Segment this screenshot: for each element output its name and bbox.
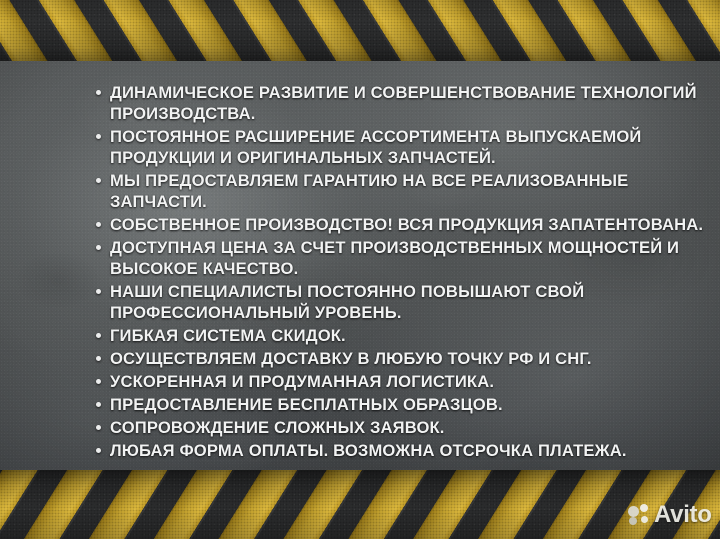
poster-image: ДИНАМИЧЕСКОЕ РАЗВИТИЕ И СОВЕРШЕНСТВОВАНИ… <box>0 0 720 539</box>
hazard-shading-bottom <box>0 470 720 539</box>
list-item-text: ПОСТОЯННОЕ РАСШИРЕНИЕ АССОРТИМЕНТА ВЫПУС… <box>110 126 706 168</box>
bullet-dot-icon <box>96 90 101 95</box>
list-item-text: ЛЮБАЯ ФОРМА ОПЛАТЫ. ВОЗМОЖНА ОТСРОЧКА ПЛ… <box>110 440 706 461</box>
list-item: ЛЮБАЯ ФОРМА ОПЛАТЫ. ВОЗМОЖНА ОТСРОЧКА ПЛ… <box>0 440 720 461</box>
list-item: ПОСТОЯННОЕ РАСШИРЕНИЕ АССОРТИМЕНТА ВЫПУС… <box>0 126 720 168</box>
list-item-text: СОБСТВЕННОЕ ПРОИЗВОДСТВО! ВСЯ ПРОДУКЦИЯ … <box>110 214 706 235</box>
list-item: УСКОРЕННАЯ И ПРОДУМАННАЯ ЛОГИСТИКА. <box>0 371 720 392</box>
avito-dots-icon <box>628 504 650 526</box>
list-item: СОБСТВЕННОЕ ПРОИЗВОДСТВО! ВСЯ ПРОДУКЦИЯ … <box>0 214 720 235</box>
bullet-dot-icon <box>96 333 101 338</box>
hazard-stripe-band-top <box>0 0 720 61</box>
list-item-text: СОПРОВОЖДЕНИЕ СЛОЖНЫХ ЗАЯВОК. <box>110 417 706 438</box>
bullet-dot-icon <box>96 356 101 361</box>
list-item: ОСУЩЕСТВЛЯЕМ ДОСТАВКУ В ЛЮБУЮ ТОЧКУ РФ И… <box>0 348 720 369</box>
list-item-text: МЫ ПРЕДОСТАВЛЯЕМ ГАРАНТИЮ НА ВСЕ РЕАЛИЗО… <box>110 170 706 212</box>
list-item: ПРЕДОСТАВЛЕНИЕ БЕСПЛАТНЫХ ОБРАЗЦОВ. <box>0 394 720 415</box>
list-item: ГИБКАЯ СИСТЕМА СКИДОК. <box>0 325 720 346</box>
list-item-text: НАШИ СПЕЦИАЛИСТЫ ПОСТОЯННО ПОВЫШАЮТ СВОЙ… <box>110 281 706 323</box>
list-item: СОПРОВОЖДЕНИЕ СЛОЖНЫХ ЗАЯВОК. <box>0 417 720 438</box>
list-item-text: ДИНАМИЧЕСКОЕ РАЗВИТИЕ И СОВЕРШЕНСТВОВАНИ… <box>110 82 706 124</box>
list-item-text: УСКОРЕННАЯ И ПРОДУМАННАЯ ЛОГИСТИКА. <box>110 371 706 392</box>
list-item: МЫ ПРЕДОСТАВЛЯЕМ ГАРАНТИЮ НА ВСЕ РЕАЛИЗО… <box>0 170 720 212</box>
avito-watermark: Avito <box>628 503 712 527</box>
bullet-dot-icon <box>96 425 101 430</box>
list-item-text: ПРЕДОСТАВЛЕНИЕ БЕСПЛАТНЫХ ОБРАЗЦОВ. <box>110 394 706 415</box>
list-item-text: ГИБКАЯ СИСТЕМА СКИДОК. <box>110 325 706 346</box>
hazard-shading-top <box>0 0 720 61</box>
list-item: ДОСТУПНАЯ ЦЕНА ЗА СЧЕТ ПРОИЗВОДСТВЕННЫХ … <box>0 237 720 279</box>
bullet-list-region: ДИНАМИЧЕСКОЕ РАЗВИТИЕ И СОВЕРШЕНСТВОВАНИ… <box>0 61 720 470</box>
list-item: ДИНАМИЧЕСКОЕ РАЗВИТИЕ И СОВЕРШЕНСТВОВАНИ… <box>0 82 720 124</box>
avito-wordmark: Avito <box>654 503 712 527</box>
list-item-text: ОСУЩЕСТВЛЯЕМ ДОСТАВКУ В ЛЮБУЮ ТОЧКУ РФ И… <box>110 348 706 369</box>
bullet-dot-icon <box>96 379 101 384</box>
bullet-dot-icon <box>96 245 101 250</box>
benefits-list: ДИНАМИЧЕСКОЕ РАЗВИТИЕ И СОВЕРШЕНСТВОВАНИ… <box>0 61 720 461</box>
bullet-dot-icon <box>96 134 101 139</box>
bullet-dot-icon <box>96 289 101 294</box>
bullet-dot-icon <box>96 178 101 183</box>
bullet-dot-icon <box>96 222 101 227</box>
bullet-dot-icon <box>96 448 101 453</box>
hazard-stripe-band-bottom <box>0 470 720 539</box>
bullet-dot-icon <box>96 402 101 407</box>
list-item-text: ДОСТУПНАЯ ЦЕНА ЗА СЧЕТ ПРОИЗВОДСТВЕННЫХ … <box>110 237 706 279</box>
list-item: НАШИ СПЕЦИАЛИСТЫ ПОСТОЯННО ПОВЫШАЮТ СВОЙ… <box>0 281 720 323</box>
